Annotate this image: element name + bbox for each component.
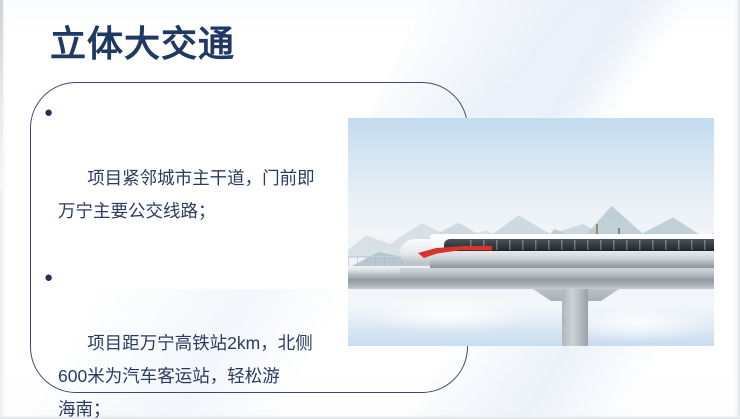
left-edge-gradient [0,0,7,419]
high-speed-train [400,234,714,268]
photo-sky [348,118,714,237]
train-photo [348,118,714,346]
bullet-marker-icon: ● [44,261,53,294]
list-item-text: 项目距万宁高铁站2km，北侧 600米为汽车客运站，轻松游 海南； [58,333,313,419]
photo-cloud-left [358,298,538,332]
page-title: 立体大交通 [50,24,235,64]
right-edge-gradient [733,0,740,419]
list-item-text: 项目紧邻城市主干道，门前即 万宁主要公交线路； [58,168,315,221]
viaduct-pier [562,286,588,346]
train-skirt [430,260,714,268]
list-item: ● 项目紧邻城市主干道，门前即 万宁主要公交线路； [44,96,344,261]
list-item: ● 项目距万宁高铁站2km，北侧 600米为汽车客运站，轻松游 海南； [44,261,344,419]
bullet-list: ● 项目紧邻城市主干道，门前即 万宁主要公交线路； ● 项目距万宁高铁站2km，… [44,96,344,419]
bullet-marker-icon: ● [44,96,53,129]
left-edge-accent [0,0,3,190]
train-window-dividers [470,240,714,250]
train-reflection [400,268,714,282]
slide-root: 立体大交通 ● 项目紧邻城市主干道，门前即 万宁主要公交线路； ● 项目距万宁高… [0,0,740,419]
